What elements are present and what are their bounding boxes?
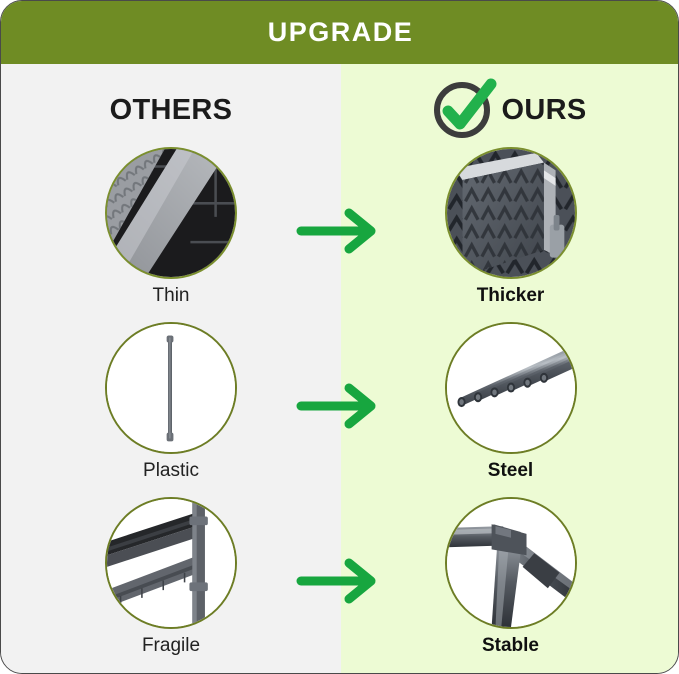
row-2-ours-cell: Steel (341, 319, 679, 494)
row-1-ours-label: Thicker (341, 284, 679, 308)
row-2-others-label: Plastic (1, 459, 341, 483)
row-1-ours-cell: Thicker (341, 144, 679, 319)
column-heading-ours-label: OURS (502, 94, 587, 127)
row-1-others-cell: Thin (1, 144, 341, 319)
fragile-joint-photo (105, 497, 237, 629)
comparison-content: OTHERS OURS (1, 64, 679, 674)
row-3-others-label: Fragile (1, 634, 341, 658)
column-heading-others: OTHERS (1, 89, 341, 131)
row-3-others-cell: Fragile (1, 494, 341, 669)
row-2-ours-label: Steel (341, 459, 679, 483)
steel-tubes-photo (445, 322, 577, 454)
plastic-rod-photo (105, 322, 237, 454)
row-2-others-cell: Plastic (1, 319, 341, 494)
check-circle-icon (435, 83, 489, 137)
page-title: UPGRADE (268, 19, 414, 46)
comparison-row: Plastic (1, 319, 679, 494)
upgrade-comparison-card: UPGRADE OTHERS OURS (0, 0, 679, 674)
row-3-ours-label: Stable (341, 634, 679, 658)
header-bar: UPGRADE (1, 1, 679, 64)
stable-connector-photo (445, 497, 577, 629)
column-heading-others-label: OTHERS (110, 94, 233, 127)
row-3-ours-cell: Stable (341, 494, 679, 669)
comparison-row: Thin (1, 144, 679, 319)
column-heading-ours: OURS (341, 89, 679, 131)
comparison-row: Fragile (1, 494, 679, 669)
thin-panel-photo (105, 147, 237, 279)
thicker-panel-photo (445, 147, 577, 279)
row-1-others-label: Thin (1, 284, 341, 308)
